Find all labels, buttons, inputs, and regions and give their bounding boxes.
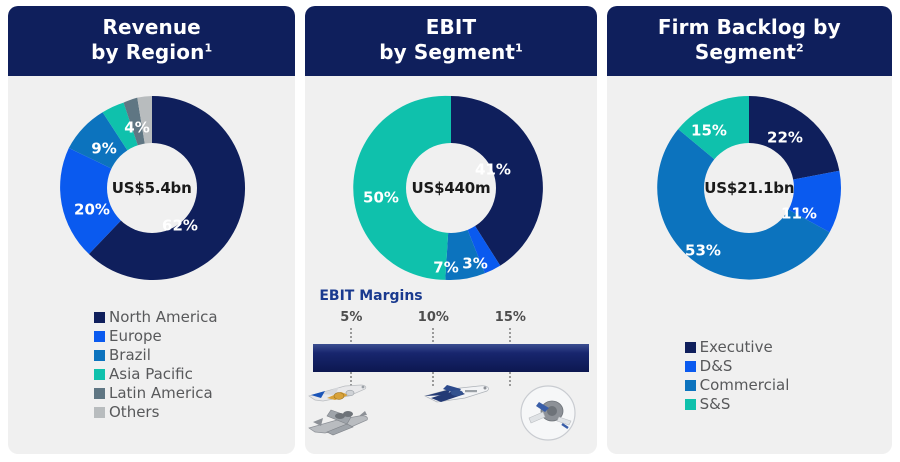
legend-swatch-icon xyxy=(685,342,696,353)
panel-title-line2: by Region xyxy=(91,40,204,64)
legend-item-brazil[interactable]: Brazil xyxy=(94,346,151,365)
legend-label-europe: Europe xyxy=(109,327,162,346)
donut-chart-backlog: 22% 11% 53% 15% US$21.1bn xyxy=(607,88,892,288)
legend-label-executive: Executive xyxy=(700,338,773,357)
ebit-margin-bar xyxy=(313,344,588,372)
legend-item-commercial[interactable]: Commercial xyxy=(685,376,790,395)
panel-title-ebit: EBIT by Segment1 xyxy=(305,6,596,76)
slice-value-europe: 20% xyxy=(74,201,110,219)
slice-value-ds: 3% xyxy=(462,255,487,273)
slice-value-commercial: 53% xyxy=(685,242,721,260)
panel-ebit-by-segment: EBIT by Segment1 41% xyxy=(305,6,596,454)
panel-title-revenue: Revenue by Region1 xyxy=(8,6,295,76)
panel-title-line2: by Segment xyxy=(379,40,515,64)
margin-tick-label-10: 10% xyxy=(418,310,449,325)
donut-center-label-ebit: US$440m xyxy=(351,179,551,197)
business-jet-icon xyxy=(417,376,495,410)
panel-title-footnote-marker: 1 xyxy=(204,41,212,54)
legend-label-brazil: Brazil xyxy=(109,346,151,365)
military-transport-aircraft-icon xyxy=(307,400,381,442)
ebit-margins-title: EBIT Margins xyxy=(319,288,422,304)
slice-value-north-america: 62% xyxy=(162,217,198,235)
margin-tick-label-15: 15% xyxy=(495,310,526,325)
legend-revenue: North America Europe Brazil Asia Pacific… xyxy=(8,308,295,422)
panel-body-backlog: 22% 11% 53% 15% US$21.1bn Executive D&S xyxy=(607,76,892,454)
legend-label-ss: S&S xyxy=(700,395,731,414)
legend-swatch-icon xyxy=(685,380,696,391)
legend-label-north-america: North America xyxy=(109,308,218,327)
legend-backlog: Executive D&S Commercial S&S xyxy=(607,338,892,414)
legend-item-latin-america[interactable]: Latin America xyxy=(94,384,213,403)
slice-value-brazil: 9% xyxy=(91,140,116,158)
slice-value-executive: 22% xyxy=(767,129,803,147)
panel-title-line1: Firm Backlog by xyxy=(658,15,841,39)
panel-body-ebit: 41% 3% 7% 50% US$440m EBIT Margins 5% 10… xyxy=(305,76,596,454)
panel-title-line2: Segment xyxy=(695,40,796,64)
slice-value-executive: 41% xyxy=(475,161,511,179)
donut-center-label-backlog: US$21.1bn xyxy=(649,179,849,197)
services-engine-icon xyxy=(519,384,577,442)
legend-item-ss[interactable]: S&S xyxy=(685,395,731,414)
panel-firm-backlog-by-segment: Firm Backlog by Segment2 2 xyxy=(607,6,892,454)
slice-value-ss: 15% xyxy=(691,122,727,140)
panel-title-footnote-marker: 2 xyxy=(796,41,804,54)
legend-swatch-icon xyxy=(685,361,696,372)
legend-swatch-icon xyxy=(94,369,105,380)
margin-tick-label-5: 5% xyxy=(340,310,362,325)
kpi-dashboard: Revenue by Region1 xyxy=(0,0,900,462)
legend-swatch-icon xyxy=(94,388,105,399)
donut-chart-ebit: 41% 3% 7% 50% US$440m xyxy=(305,88,596,288)
legend-item-europe[interactable]: Europe xyxy=(94,327,162,346)
legend-item-others[interactable]: Others xyxy=(94,403,159,422)
legend-item-ds[interactable]: D&S xyxy=(685,357,733,376)
legend-item-north-america[interactable]: North America xyxy=(94,308,218,327)
legend-swatch-icon xyxy=(685,399,696,410)
legend-label-latin-america: Latin America xyxy=(109,384,213,403)
legend-label-commercial: Commercial xyxy=(700,376,790,395)
legend-swatch-icon xyxy=(94,312,105,323)
slice-value-commercial: 7% xyxy=(433,259,458,277)
legend-label-others: Others xyxy=(109,403,159,422)
legend-swatch-icon xyxy=(94,350,105,361)
aircraft-illustrations xyxy=(305,372,596,454)
donut-chart-revenue: 62% 20% 9% 4% US$5.4bn xyxy=(8,88,295,288)
panel-body-revenue: 62% 20% 9% 4% US$5.4bn North America Eur… xyxy=(8,76,295,454)
legend-label-ds: D&S xyxy=(700,357,733,376)
legend-swatch-icon xyxy=(94,331,105,342)
legend-swatch-icon xyxy=(94,407,105,418)
panel-revenue-by-region: Revenue by Region1 xyxy=(8,6,295,454)
legend-item-asia-pacific[interactable]: Asia Pacific xyxy=(94,365,193,384)
slice-value-ds: 11% xyxy=(781,205,817,223)
panel-title-footnote-marker: 1 xyxy=(515,41,523,54)
slice-value-asia-pacific: 4% xyxy=(124,119,149,137)
panel-title-backlog: Firm Backlog by Segment2 xyxy=(607,6,892,76)
panel-title-line1: EBIT xyxy=(426,15,476,39)
ebit-margin-tick-labels: 5% 10% 15% xyxy=(305,310,596,328)
ebit-margins-block: EBIT Margins 5% 10% 15% xyxy=(305,288,596,454)
legend-label-asia-pacific: Asia Pacific xyxy=(109,365,193,384)
legend-item-executive[interactable]: Executive xyxy=(685,338,773,357)
panel-title-line1: Revenue xyxy=(103,15,201,39)
donut-center-label-revenue: US$5.4bn xyxy=(52,179,252,197)
